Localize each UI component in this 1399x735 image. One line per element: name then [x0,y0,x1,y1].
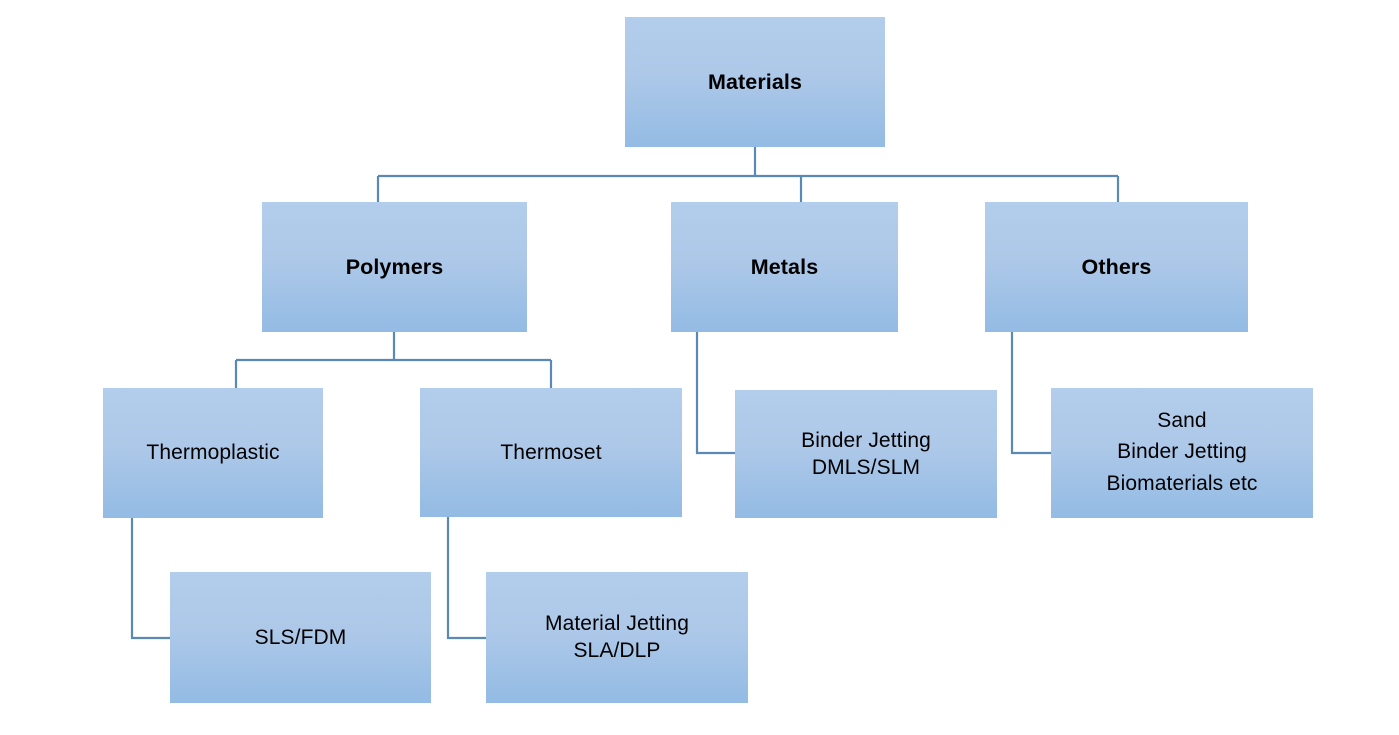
node-others-materials[interactable]: Sand Binder Jetting Biomaterials etc [1051,388,1313,518]
node-thermoplastic[interactable]: Thermoplastic [103,388,323,518]
node-thermoset-processes-label-1: Material Jetting [545,611,689,637]
diagram-canvas: Materials Polymers Metals Others Thermop… [0,0,1399,735]
node-thermoset-processes[interactable]: Material Jetting SLA/DLP [486,572,748,703]
node-others[interactable]: Others [985,202,1248,332]
node-polymers[interactable]: Polymers [262,202,527,332]
node-others-materials-label-2: Binder Jetting [1117,439,1247,465]
node-thermoset-processes-label-2: SLA/DLP [573,638,660,664]
node-thermoset-label-1: Thermoset [500,440,601,466]
node-metals-processes[interactable]: Binder Jetting DMLS/SLM [735,390,997,518]
node-materials[interactable]: Materials [625,17,885,147]
node-metals-processes-label-1: Binder Jetting [801,428,931,454]
node-others-materials-label-1: Sand [1157,408,1206,434]
node-others-materials-label-3: Biomaterials etc [1107,471,1258,497]
node-thermoset[interactable]: Thermoset [420,388,682,517]
node-thermoplastic-label-1: Thermoplastic [146,440,279,466]
node-metals-processes-label-2: DMLS/SLM [812,455,920,481]
node-thermoplastic-processes-label-1: SLS/FDM [255,625,347,651]
node-metals-label-1: Metals [751,254,819,280]
node-thermoplastic-processes[interactable]: SLS/FDM [170,572,431,703]
edge-thermoplastic-to-processes [132,518,170,638]
node-others-label-1: Others [1082,254,1152,280]
edge-others-to-materials [1012,332,1051,453]
edge-thermoset-to-processes [448,517,486,638]
node-materials-label-1: Materials [708,69,802,95]
node-metals[interactable]: Metals [671,202,898,332]
edge-metals-to-processes [697,332,735,453]
node-polymers-label-1: Polymers [346,254,444,280]
